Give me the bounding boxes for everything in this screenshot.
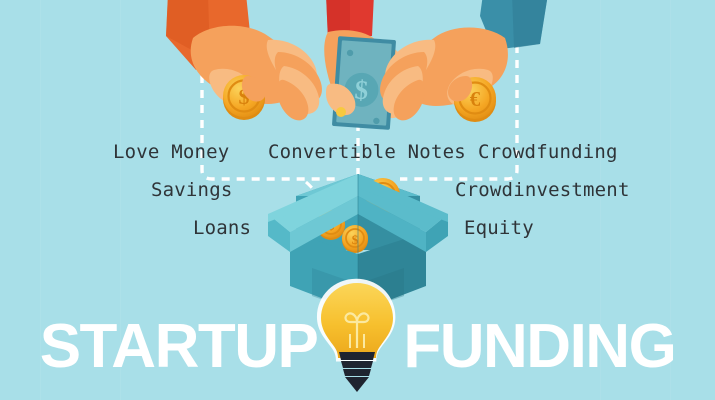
label-savings: Savings — [151, 181, 232, 200]
label-love-money: Love Money — [113, 143, 229, 162]
label-loans: Loans — [193, 219, 251, 238]
svg-text:€: € — [470, 87, 481, 111]
label-crowdinvestment: Crowdinvestment — [455, 181, 630, 200]
label-convertible-notes: Convertible Notes — [268, 143, 466, 162]
label-crowdfunding: Crowdfunding — [478, 143, 618, 162]
label-equity: Equity — [464, 219, 534, 238]
svg-text:$: $ — [354, 74, 370, 105]
infographic-canvas: $ $ — [0, 0, 715, 400]
